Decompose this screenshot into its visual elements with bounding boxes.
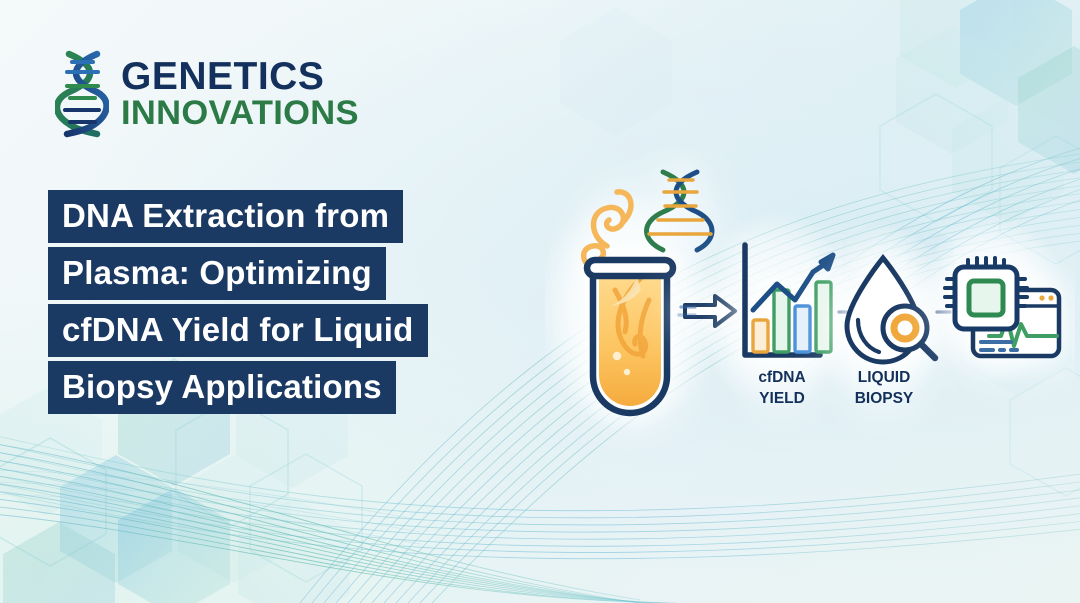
bar-1: [753, 320, 768, 352]
process-illustration: cfDNA YIELD LIQUID BIOPSY: [545, 150, 1075, 450]
dna-helix-icon: [55, 48, 109, 140]
poster-canvas: GENETICS INNOVATIONS DNA Extraction from…: [0, 0, 1080, 603]
title-line-3: cfDNA Yield for Liquid: [48, 304, 428, 357]
bar-4: [816, 282, 831, 352]
title-line-1: DNA Extraction from: [48, 190, 403, 243]
brand-name-line1: GENETICS: [121, 58, 359, 95]
cfdna-yield-label-line1: cfDNA: [758, 369, 805, 386]
bar-2: [774, 290, 789, 352]
liquid-biopsy-label-line2: BIOPSY: [855, 390, 914, 407]
brand-name-line2: INNOVATIONS: [121, 97, 359, 130]
cfdna-yield-label-line2: YIELD: [759, 390, 805, 407]
title-line-2: Plasma: Optimizing: [48, 247, 386, 300]
page-title: DNA Extraction from Plasma: Optimizing c…: [48, 190, 428, 418]
brand-logo: GENETICS INNOVATIONS: [55, 48, 359, 140]
liquid-biopsy-label-line1: LIQUID: [858, 369, 911, 386]
title-line-4: Biopsy Applications: [48, 361, 396, 414]
bar-3: [795, 306, 810, 352]
